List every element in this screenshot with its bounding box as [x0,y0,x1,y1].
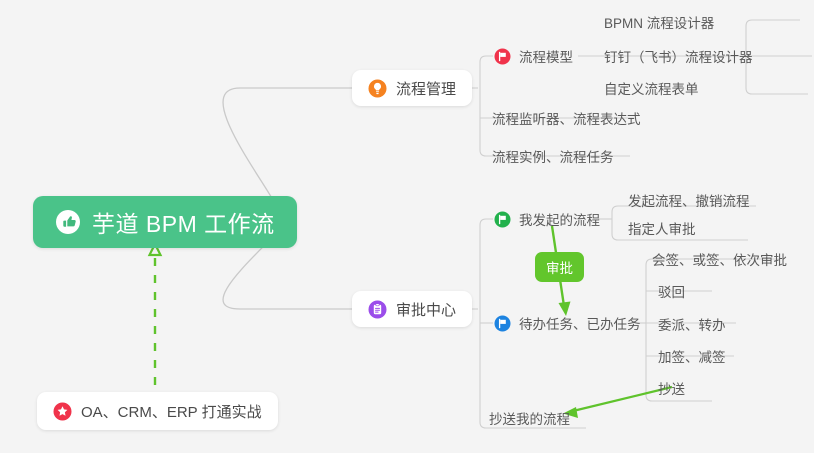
leaf-label: 指定人审批 [628,218,696,238]
leaf-instance-task[interactable]: 流程实例、流程任务 [490,142,616,170]
leaf-cc-to-me-process[interactable]: 抄送我的流程 [487,404,572,432]
leaf-reject[interactable]: 驳回 [656,277,687,305]
leaf-label: 抄送 [658,378,685,398]
root-node[interactable]: 芋道 BPM 工作流 [33,196,297,248]
branch-process-management[interactable]: 流程管理 [352,70,472,106]
leaf-label: 流程监听器、流程表达式 [492,108,641,128]
leaf-label: 流程实例、流程任务 [492,146,614,166]
thumbs-up-icon [55,209,81,235]
leaf-label: 驳回 [658,281,685,301]
approval-badge[interactable]: 审批 [535,252,584,282]
root-label: 芋道 BPM 工作流 [92,205,275,239]
node-process-model[interactable]: 流程模型 [492,42,575,70]
leaf-dingtalk-feishu-designer[interactable]: 钉钉（飞书）流程设计器 [602,42,755,70]
node-label: 待办任务、已办任务 [519,313,641,333]
node-label: 流程模型 [519,46,573,66]
node-label: 我发起的流程 [519,209,600,229]
leaf-label: 抄送我的流程 [489,408,570,428]
leaf-label: 会签、或签、依次审批 [652,249,787,269]
branch-label: 审批中心 [396,299,456,320]
leaf-label: 发起流程、撤销流程 [628,190,750,210]
leaf-bpmn-designer[interactable]: BPMN 流程设计器 [602,8,716,36]
flag-icon [494,48,511,65]
leaf-listener-expression[interactable]: 流程监听器、流程表达式 [490,104,643,132]
bottom-note-card[interactable]: OA、CRM、ERP 打通实战 [37,392,278,430]
leaf-delegate-transfer[interactable]: 委派、转办 [656,310,728,338]
leaf-cc[interactable]: 抄送 [656,374,687,402]
bottom-note-label: OA、CRM、ERP 打通实战 [81,401,262,422]
branch-label: 流程管理 [396,78,456,99]
leaf-label: 加签、减签 [658,346,726,366]
leaf-add-remove-sign[interactable]: 加签、减签 [656,342,728,370]
leaf-assignee-approval[interactable]: 指定人审批 [626,214,698,242]
leaf-countersign[interactable]: 会签、或签、依次审批 [650,245,789,273]
star-icon [53,402,72,421]
flag-icon [494,315,511,332]
practice-arrow-icon [150,244,161,385]
branch-approval-center[interactable]: 审批中心 [352,291,472,327]
approval-badge-label: 审批 [546,257,573,277]
leaf-label: 自定义流程表单 [604,78,699,98]
leaf-label: 委派、转办 [658,314,726,334]
lightbulb-icon [368,79,387,98]
leaf-start-cancel-process[interactable]: 发起流程、撤销流程 [626,186,752,214]
mindmap-canvas: 芋道 BPM 工作流 OA、CRM、ERP 打通实战 流程管理 [0,0,814,453]
leaf-custom-process-form[interactable]: 自定义流程表单 [602,74,701,102]
node-my-started-process[interactable]: 我发起的流程 [492,205,602,233]
flag-icon [494,211,511,228]
node-todo-done-task[interactable]: 待办任务、已办任务 [492,309,643,337]
leaf-label: 钉钉（飞书）流程设计器 [604,46,753,66]
leaf-label: BPMN 流程设计器 [604,12,714,32]
clipboard-icon [368,300,387,319]
